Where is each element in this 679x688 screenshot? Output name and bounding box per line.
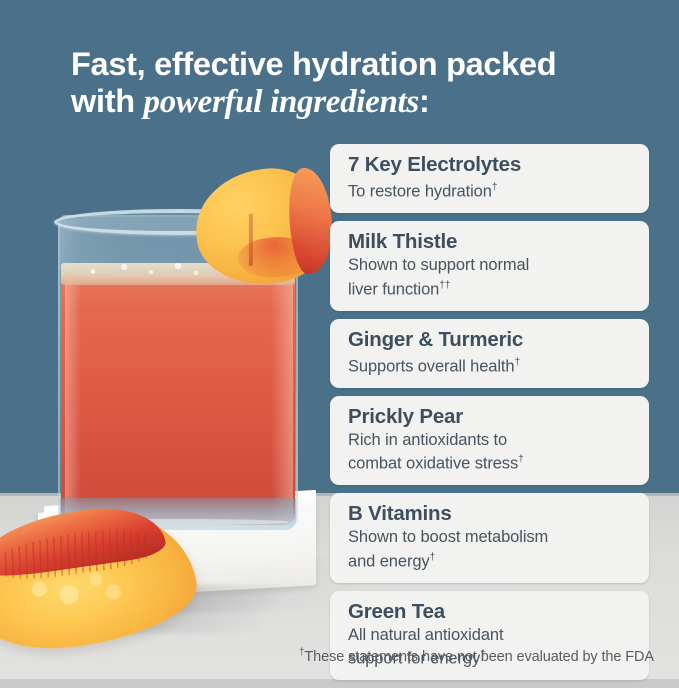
card-description: Supports overall health† [348,352,649,377]
card-description-line: Supports overall health [348,357,514,375]
fda-disclaimer: †These statements have not been evaluate… [0,647,654,665]
card-dagger: † [492,182,498,193]
card-description-line-2: liver function [348,280,439,298]
ingredient-card-list: 7 Key Electrolytes To restore hydration†… [330,144,649,688]
ingredient-card-electrolytes[interactable]: 7 Key Electrolytes To restore hydration† [330,144,649,213]
ingredient-card-b-vitamins[interactable]: B Vitamins Shown to boost metabolismand … [330,493,649,583]
card-description-line: To restore hydration [348,183,492,201]
card-title: Ginger & Turmeric [348,328,649,352]
card-description: Shown to boost metabolismand energy† [348,526,649,572]
card-title: B Vitamins [348,502,649,526]
card-description: Rich in antioxidants tocombat oxidative … [348,429,649,475]
card-description: To restore hydration† [348,177,649,202]
card-title: Prickly Pear [348,405,649,429]
card-description-line-1: Rich in antioxidants to [348,431,507,449]
footnote-text: These statements have not been evaluated… [304,649,654,665]
headline-emphasis: powerful ingredients [144,84,419,120]
promo-graphic: Fast, effective hydration packed with po… [0,0,679,679]
card-dagger: † [518,454,524,465]
ingredient-card-green-tea[interactable]: Green Tea All natural antioxidantsupport… [330,591,649,681]
card-title: 7 Key Electrolytes [348,153,649,177]
ingredient-card-prickly-pear[interactable]: Prickly Pear Rich in antioxidants tocomb… [330,396,649,486]
card-description-line-2: and energy [348,552,430,570]
card-description: Shown to support normalliver function†† [348,254,649,300]
headline-line-2-prefix: with [71,83,144,119]
peach-garnish-icon [192,164,334,288]
card-description-line-1: Shown to support normal [348,256,529,274]
headline-line-1: Fast, effective hydration packed [71,46,556,82]
card-description-line-1: All natural antioxidant [348,626,503,644]
drink-liquid [61,275,295,525]
ingredient-card-milk-thistle[interactable]: Milk Thistle Shown to support normallive… [330,221,649,311]
card-description-line-1: Shown to boost metabolism [348,528,548,546]
card-dagger: † [430,552,436,563]
card-dagger: †† [439,280,450,291]
card-description-line-2: combat oxidative stress [348,455,518,473]
peach-garnish-notch [249,214,253,266]
headline-line-2-suffix: : [419,83,430,119]
page-title: Fast, effective hydration packed with po… [71,46,631,121]
card-title: Green Tea [348,600,649,624]
card-title: Milk Thistle [348,230,649,254]
ingredient-card-ginger-turmeric[interactable]: Ginger & Turmeric Supports overall healt… [330,319,649,388]
card-dagger: † [514,357,520,368]
